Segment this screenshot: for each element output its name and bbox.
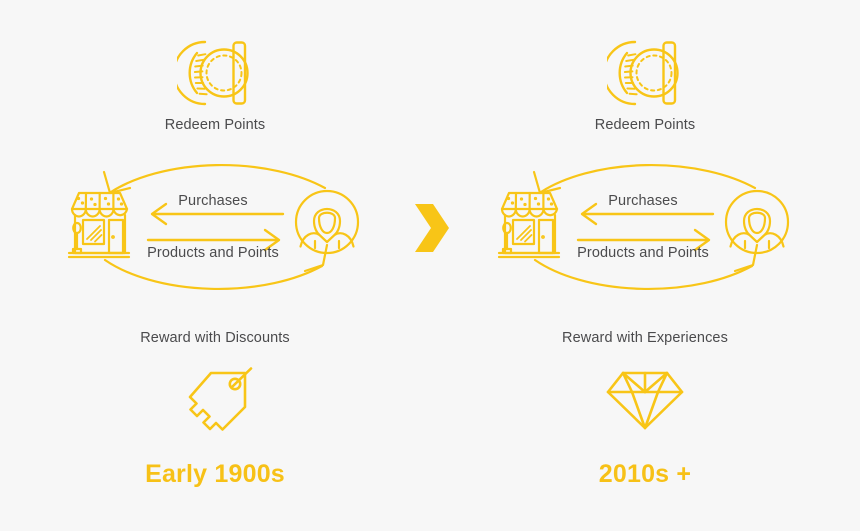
customer-icon — [293, 188, 361, 256]
storefront-icon — [63, 187, 136, 262]
top-caption: Redeem Points — [430, 117, 860, 134]
flow-label-outbound: Products and Points — [133, 245, 293, 262]
cycle-diagram: Purchases Products and Points — [430, 140, 860, 320]
flow-label-outbound: Products and Points — [563, 245, 723, 262]
bottom-caption: Reward with Experiences — [430, 330, 860, 347]
bottom-caption: Reward with Discounts — [0, 330, 430, 347]
loyalty-evolution-diagram: Redeem Points — [0, 0, 860, 531]
diamond-icon — [605, 366, 685, 432]
coin-icon — [607, 33, 683, 113]
panel-early-1900s: Redeem Points — [0, 0, 430, 531]
flow-label-inbound: Purchases — [133, 193, 293, 210]
coin-icon — [177, 33, 253, 113]
panel-2010s-plus: Redeem Points — [430, 0, 860, 531]
top-caption: Redeem Points — [0, 117, 430, 134]
storefront-icon — [493, 187, 566, 262]
flow-label-inbound: Purchases — [563, 193, 723, 210]
era-label: Early 1900s — [0, 460, 430, 489]
price-tag-icon — [175, 366, 255, 432]
era-label: 2010s + — [430, 460, 860, 489]
cycle-diagram: Purchases Products and Points — [0, 140, 430, 320]
customer-icon — [723, 188, 791, 256]
